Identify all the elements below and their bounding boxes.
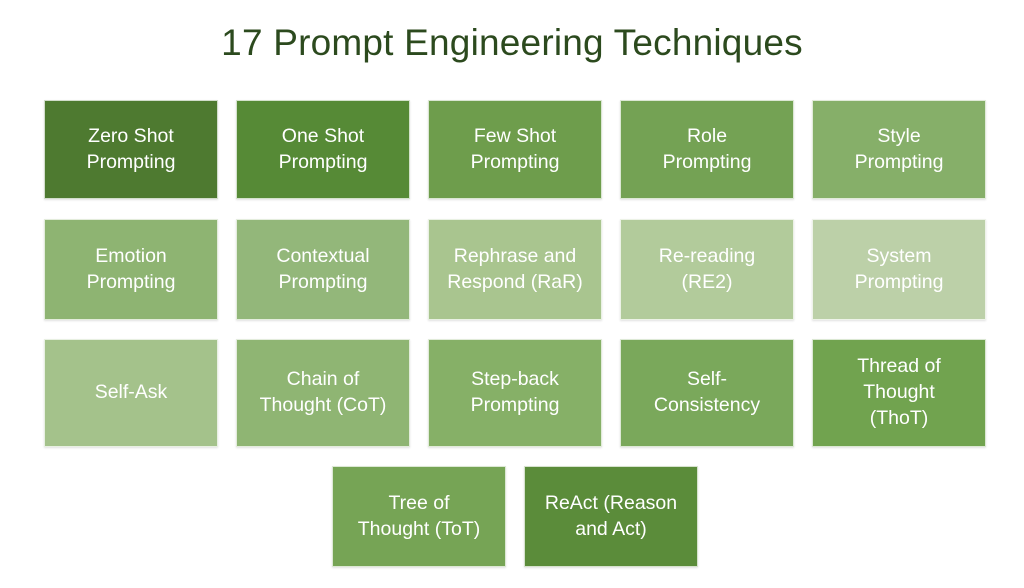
- technique-card[interactable]: System Prompting: [812, 219, 986, 320]
- technique-card[interactable]: Rephrase and Respond (RaR): [428, 219, 602, 320]
- technique-card[interactable]: Tree of Thought (ToT): [332, 466, 506, 567]
- technique-row-4: Tree of Thought (ToT) ReAct (Reason and …: [332, 466, 698, 567]
- technique-card[interactable]: Self-Ask: [44, 339, 218, 447]
- technique-card[interactable]: Thread of Thought (ThoT): [812, 339, 986, 447]
- technique-card[interactable]: ReAct (Reason and Act): [524, 466, 698, 567]
- page-title: 17 Prompt Engineering Techniques: [0, 22, 1024, 64]
- technique-row-1: Zero Shot Prompting One Shot Prompting F…: [44, 100, 986, 199]
- technique-card[interactable]: Emotion Prompting: [44, 219, 218, 320]
- technique-card[interactable]: Few Shot Prompting: [428, 100, 602, 199]
- technique-card[interactable]: Contextual Prompting: [236, 219, 410, 320]
- technique-card[interactable]: Self- Consistency: [620, 339, 794, 447]
- technique-card[interactable]: One Shot Prompting: [236, 100, 410, 199]
- slide-canvas: 17 Prompt Engineering Techniques Zero Sh…: [0, 0, 1024, 588]
- technique-card[interactable]: Chain of Thought (CoT): [236, 339, 410, 447]
- technique-card[interactable]: Role Prompting: [620, 100, 794, 199]
- technique-card[interactable]: Style Prompting: [812, 100, 986, 199]
- technique-row-3: Self-Ask Chain of Thought (CoT) Step-bac…: [44, 339, 986, 447]
- technique-card[interactable]: Re-reading (RE2): [620, 219, 794, 320]
- technique-card[interactable]: Zero Shot Prompting: [44, 100, 218, 199]
- technique-row-2: Emotion Prompting Contextual Prompting R…: [44, 219, 986, 320]
- technique-card[interactable]: Step-back Prompting: [428, 339, 602, 447]
